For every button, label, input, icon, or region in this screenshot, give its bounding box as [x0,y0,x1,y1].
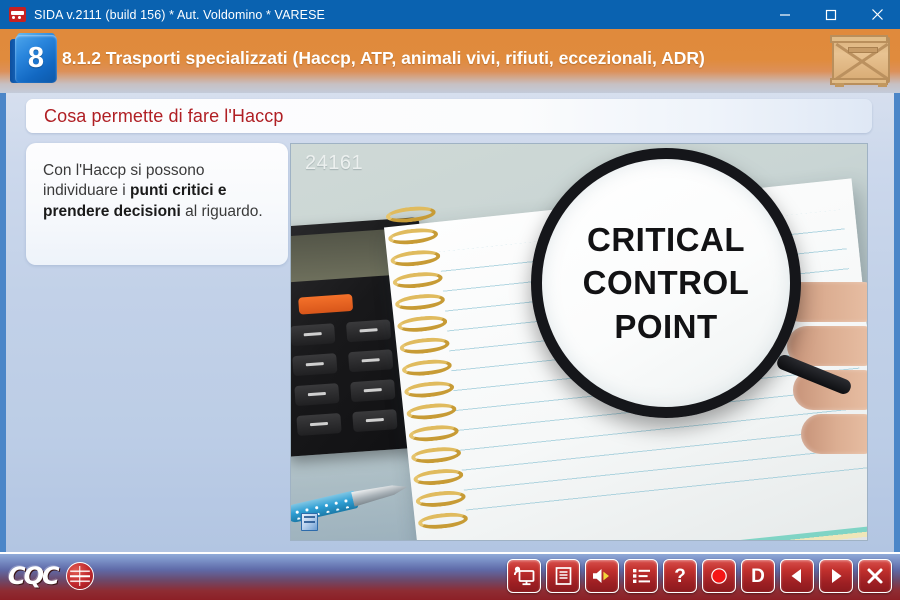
close-x-icon [865,566,885,586]
photo-caption-line3: POINT [614,305,717,349]
record-button[interactable] [702,559,736,593]
magnifying-glass-icon: CRITICAL CONTROL POINT [531,148,801,418]
lesson-photo[interactable]: CRITICAL CONTROL POINT 24161 [290,143,868,541]
page-title: 8.1.2 Trasporti specializzati (Haccp, AT… [62,48,705,69]
speaker-icon [591,566,613,586]
next-button[interactable] [819,559,853,593]
cqc-logo: CQC [8,562,94,590]
photo-watermark: 24161 [305,152,363,175]
document-icon [554,566,573,586]
content-area: Cosa permette di fare l'Haccp Con l'Hacc… [0,93,900,552]
window-title: SIDA v.2111 (build 156) * Aut. Voldomino… [34,8,325,22]
list-icon [631,567,652,585]
application-window: SIDA v.2111 (build 156) * Aut. Voldomino… [0,0,900,600]
cqc-logo-text: CQC [8,562,58,590]
bottom-toolbar: CQC [0,552,900,600]
present-screen-button[interactable] [507,559,541,593]
close-button[interactable] [854,0,900,29]
chapter-number: 8 [28,44,44,73]
wooden-crate-icon [832,37,890,83]
globe-icon[interactable] [66,562,94,590]
previous-button[interactable] [780,559,814,593]
chapter-number-badge: 8 [10,35,58,85]
exit-button[interactable] [858,559,892,593]
red-circle-icon [709,566,729,586]
document-button[interactable] [546,559,580,593]
arrow-right-icon [826,567,846,585]
window-controls [762,0,900,29]
image-document-icon[interactable] [301,513,318,531]
list-button[interactable] [624,559,658,593]
photo-caption-line1: CRITICAL [587,218,745,262]
question-mark-icon: ? [674,567,686,586]
arrow-left-icon [787,567,807,585]
lesson-text-part2: al riguardo. [181,203,263,220]
magnifier-lens: CRITICAL CONTROL POINT [531,148,801,418]
section-heading-bar: Cosa permette di fare l'Haccp [26,99,872,133]
lesson-header: 8 8.1.2 Trasporti specializzati (Haccp, … [0,29,900,93]
photo-caption-line2: CONTROL [583,261,750,305]
maximize-button[interactable] [808,0,854,29]
minimize-button[interactable] [762,0,808,29]
title-bar: SIDA v.2111 (build 156) * Aut. Voldomino… [0,0,900,29]
audio-button[interactable] [585,559,619,593]
letter-d-icon: D [751,567,765,586]
truck-icon [9,7,26,22]
dictionary-button[interactable]: D [741,559,775,593]
monitor-screen-icon [514,566,535,586]
lesson-text-panel: Con l'Haccp si possono individuare i pun… [26,143,288,265]
help-button[interactable]: ? [663,559,697,593]
section-heading-text: Cosa permette di fare l'Haccp [44,106,283,127]
toolbar-buttons: ? D [507,559,892,593]
